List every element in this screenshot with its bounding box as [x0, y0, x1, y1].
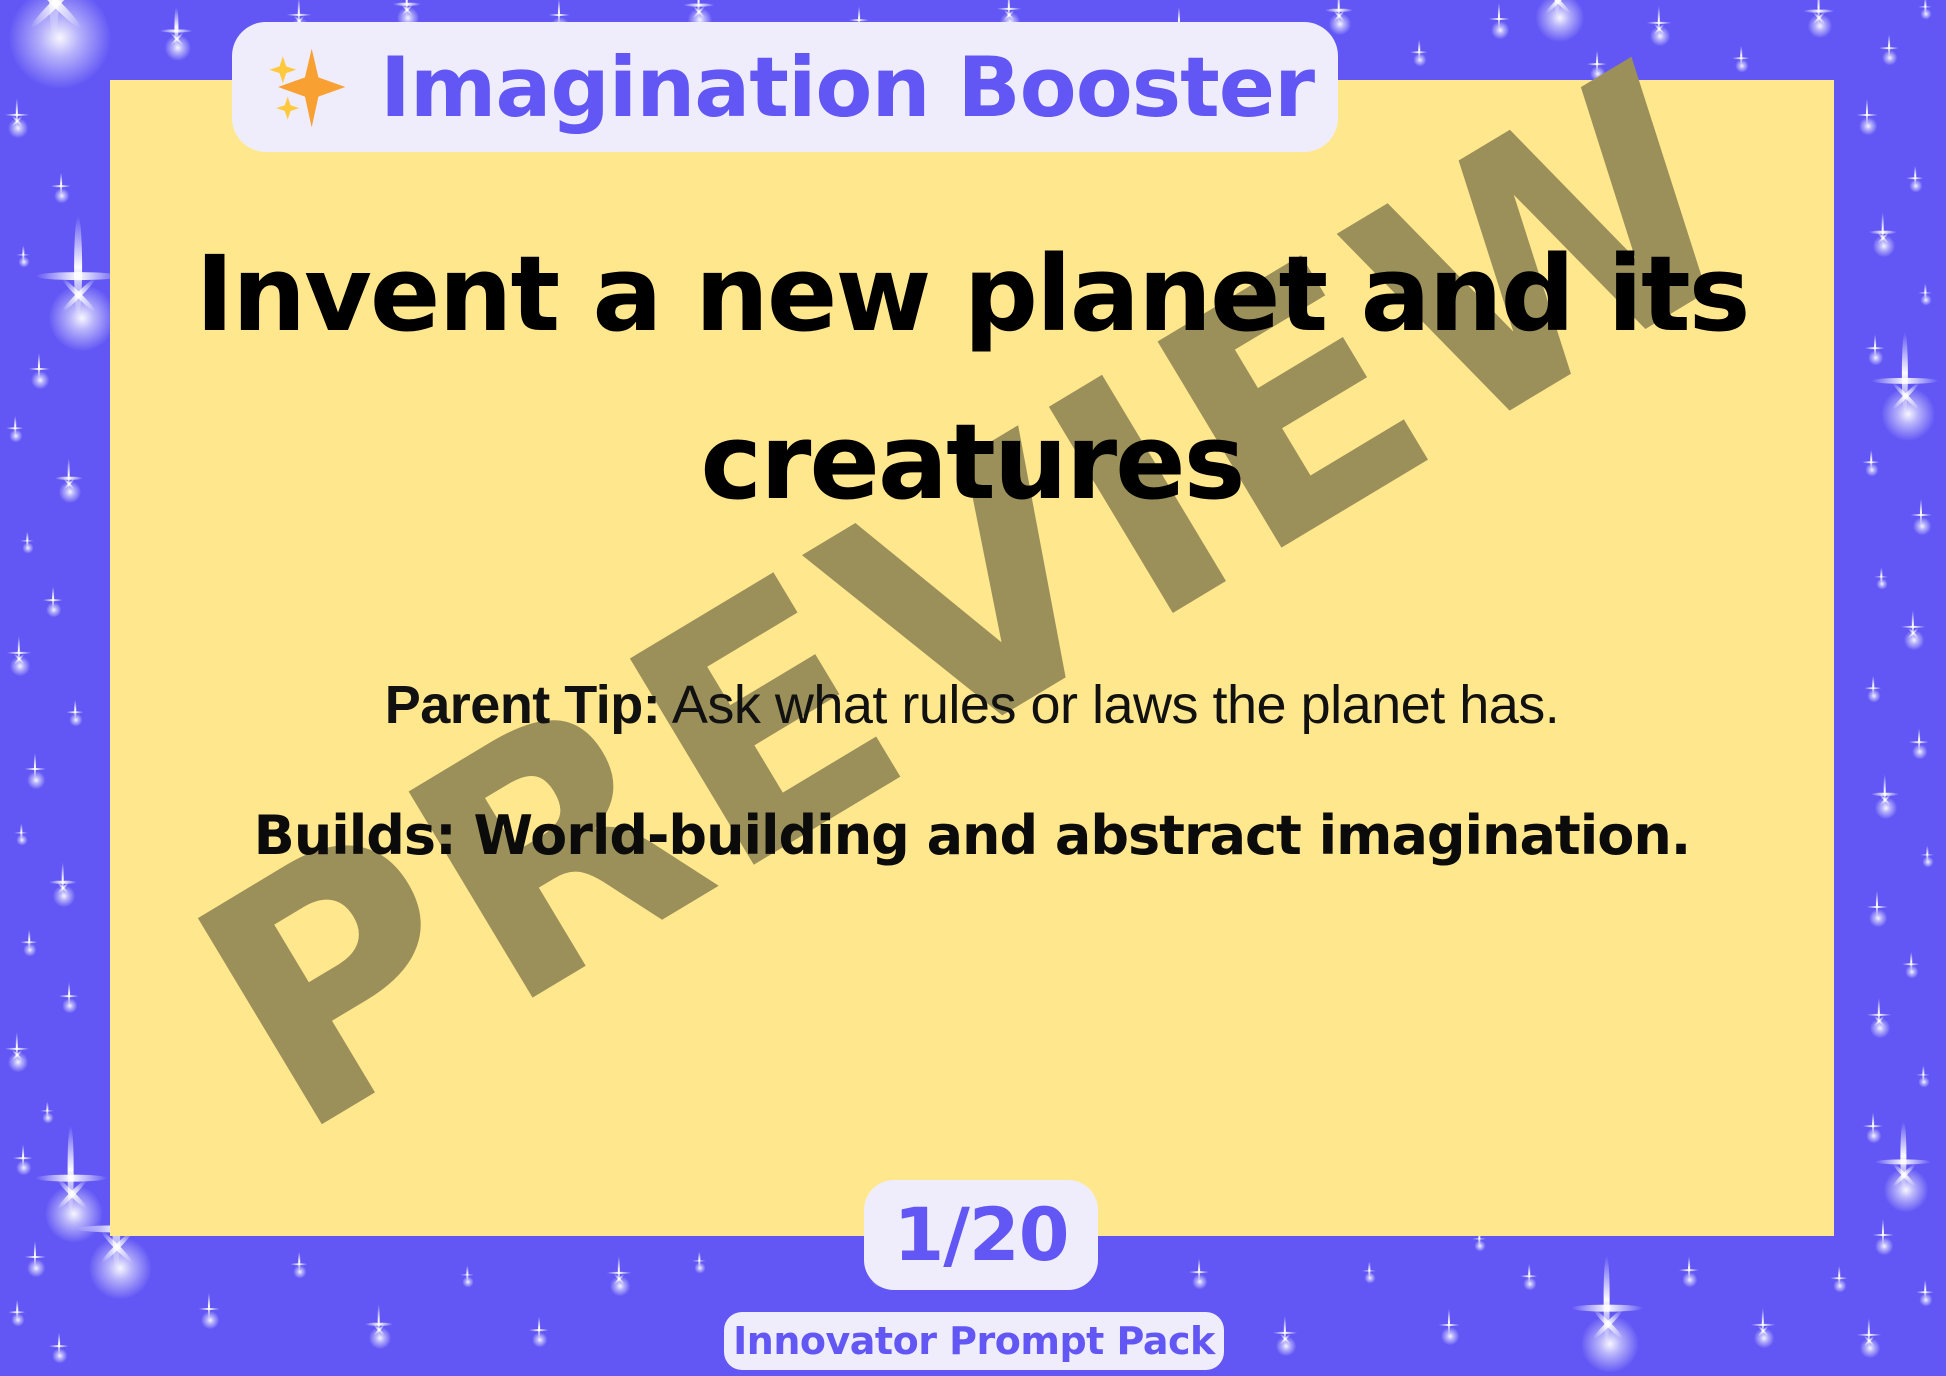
header-badge: Imagination Booster	[232, 22, 1338, 152]
header-title: Imagination Booster	[380, 46, 1314, 129]
sparkles-icon	[256, 39, 352, 135]
pack-name-badge: Innovator Prompt Pack	[724, 1312, 1224, 1370]
pack-name-text: Innovator Prompt Pack	[733, 1322, 1215, 1360]
prompt-card	[110, 80, 1834, 1236]
page-counter-badge: 1/20	[864, 1180, 1098, 1290]
prompt-card-screen: PREVIEW Invent a new planet and its crea…	[0, 0, 1946, 1376]
page-counter-text: 1/20	[893, 1199, 1068, 1272]
